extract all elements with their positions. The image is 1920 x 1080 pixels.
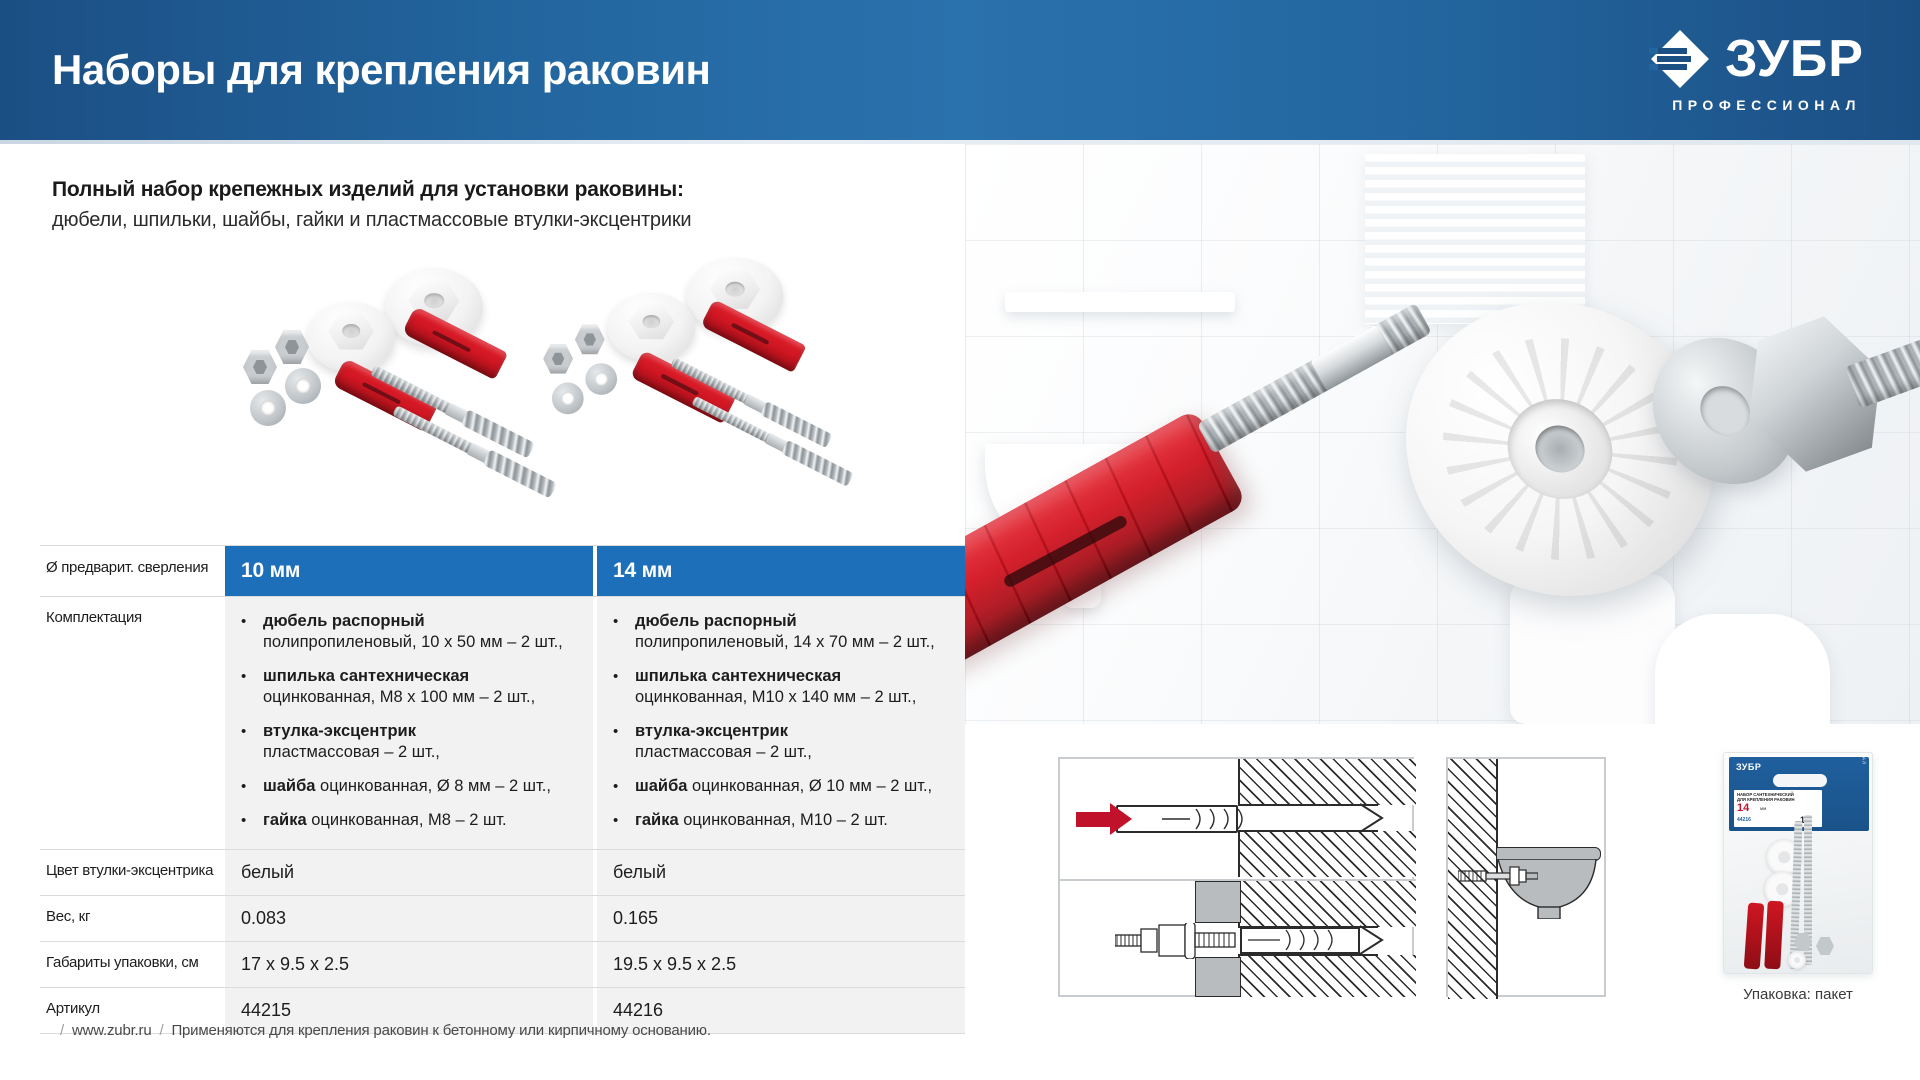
kit-item-detail: пластмассовая – 2 шт., (635, 742, 812, 763)
page-title: Наборы для крепления раковин (52, 46, 710, 94)
footer-slash: / (60, 1022, 64, 1039)
list-item: • шайба оцинкованная, Ø 8 мм – 2 шт., (241, 776, 577, 797)
row-label-color: Цвет втулки-эксцентрика (40, 850, 225, 895)
datasheet-page: Наборы для крепления раковин ЗУБР ПРОФЕС… (0, 0, 1920, 1080)
package-brand: ЗУБР (1736, 762, 1761, 772)
intro-headline: Полный набор крепежных изделий для устан… (52, 178, 691, 202)
table-header-col-14mm: 14 мм (593, 546, 965, 596)
kit-item-detail: полипропиленовый, 14 x 70 мм – 2 шт., (635, 632, 935, 653)
table-row: Комплектация • дюбель распорный полипроп… (40, 597, 965, 850)
bullet-icon: • (241, 776, 263, 797)
hero-bolt-end (1845, 336, 1920, 409)
row-value-dimensions-10mm: 17 x 9.5 x 2.5 (225, 942, 593, 987)
washer (250, 390, 286, 426)
kit-item-name: шайба (635, 777, 687, 795)
bullet-icon: • (613, 721, 635, 763)
washer (552, 383, 584, 415)
table-header-label: Ø предварит. сверления (40, 546, 225, 596)
kit-item-name: дюбель распорный (635, 612, 797, 630)
footer-slash: / (159, 1022, 163, 1039)
kit-item-name: гайка (635, 811, 679, 829)
package-bag: ЗУБР НАБОР САНТЕХНИЧЕСКИЙ ДЛЯ КРЕПЛЕНИЯ … (1723, 752, 1873, 974)
list-item: • шпилька сантехническая оцинкованная, М… (613, 666, 949, 708)
brand-logo: ЗУБР ПРОФЕССИОНАЛ (1649, 28, 1864, 113)
list-item: • шпилька сантехническая оцинкованная, М… (241, 666, 577, 708)
bullet-icon: • (613, 776, 635, 797)
kit-item-detail: оцинкованная, Ø 10 мм – 2 шт., (687, 777, 932, 795)
package-caption: Упаковка: пакет (1723, 986, 1873, 1003)
bullet-icon: • (241, 666, 263, 708)
row-label-komplektatsiya: Комплектация (40, 597, 225, 849)
kit-item-name: втулка-эксцентрик (635, 722, 788, 740)
wall-hatching (1238, 955, 1416, 997)
kit-item-name: дюбель распорный (263, 612, 425, 630)
hero-assembly (965, 154, 1920, 724)
product-photos (215, 240, 975, 550)
diagram-sink-mounted (1446, 757, 1606, 997)
list-item: • гайка оцинкованная, М10 – 2 шт. (613, 810, 949, 831)
package-anchor (1764, 901, 1784, 970)
hex-nut (575, 324, 605, 354)
hero-product-image (965, 144, 1920, 724)
page-header: Наборы для крепления раковин ЗУБР ПРОФЕС… (0, 0, 1920, 140)
bullet-icon: • (241, 721, 263, 763)
bullet-icon: • (241, 611, 263, 653)
row-value-dimensions-14mm: 19.5 x 9.5 x 2.5 (593, 942, 965, 987)
kit-item-name: втулка-эксцентрик (263, 722, 416, 740)
list-item: • втулка-эксцентрик пластмассовая – 2 шт… (613, 721, 949, 763)
package-size: 14 (1737, 803, 1749, 814)
drill-hole-tip (1360, 799, 1400, 839)
intro-subline: дюбели, шпильки, шайбы, гайки и пластмас… (52, 209, 691, 232)
package-label: ЗУБР НАБОР САНТЕХНИЧЕСКИЙ ДЛЯ КРЕПЛЕНИЯ … (1729, 757, 1869, 831)
anchor-ribs-icon (1160, 805, 1290, 833)
row-label-weight: Вес, кг (40, 896, 225, 941)
logo-wordmark: ЗУБР (1725, 33, 1864, 85)
kit-item-detail: полипропиленовый, 10 x 50 мм – 2 шт., (263, 632, 563, 653)
hero-expansion-anchor (965, 409, 1247, 688)
kit-item-detail: оцинкованная, М8 x 100 мм – 2 шт., (263, 687, 535, 708)
row-value-weight-14mm: 0.165 (593, 896, 965, 941)
table-header-col-10mm: 10 мм (225, 546, 593, 596)
row-label-dimensions: Габариты упаковки, см (40, 942, 225, 987)
list-item: • дюбель распорный полипропиленовый, 10 … (241, 611, 577, 653)
kit-list-10mm: • дюбель распорный полипропиленовый, 10 … (225, 597, 593, 849)
row-value-weight-10mm: 0.083 (225, 896, 593, 941)
package-nut (1816, 937, 1834, 955)
list-item: • шайба оцинкованная, Ø 10 мм – 2 шт., (613, 776, 949, 797)
kit-item-detail: оцинкованная, М8 – 2 шт. (307, 811, 507, 829)
kit-item-name: гайка (263, 811, 307, 829)
diagram-insertion-and-assembly (1058, 757, 1414, 997)
hex-nut (543, 344, 573, 374)
table-row: Вес, кг 0.083 0.165 (40, 896, 965, 942)
bullet-icon: • (613, 666, 635, 708)
package-washer (1788, 951, 1806, 969)
bullet-icon: • (613, 611, 635, 653)
list-item: • дюбель распорный полипропиленовый, 14 … (613, 611, 949, 653)
package-photo-block: ЗУБР НАБОР САНТЕХНИЧЕСКИЙ ДЛЯ КРЕПЛЕНИЯ … (1723, 752, 1873, 1003)
list-item: • втулка-эксцентрик пластмассовая – 2 шт… (241, 721, 577, 763)
specs-table: Ø предварит. сверления 10 мм 14 мм Компл… (40, 545, 965, 1034)
kit-item-name: шпилька сантехническая (263, 667, 469, 685)
footer-website[interactable]: www.zubr.ru (72, 1022, 152, 1039)
kit-item-detail: пластмассовая – 2 шт., (263, 742, 440, 763)
hex-nut (275, 330, 309, 364)
zubr-arrow-icon (1649, 28, 1711, 90)
hex-nut (243, 350, 277, 384)
kit-item-detail: оцинкованная, Ø 8 мм – 2 шт., (315, 777, 551, 795)
anchor-stud-icon (1458, 865, 1538, 887)
anchor-ribs-icon (1246, 927, 1366, 954)
kit-item-detail: оцинкованная, М10 – 2 шт. (679, 811, 888, 829)
bullet-icon: • (613, 810, 635, 831)
table-header-row: Ø предварит. сверления 10 мм 14 мм (40, 545, 965, 597)
kit-item-name: шайба (263, 777, 315, 795)
mount-plate (1195, 957, 1241, 997)
washer (285, 368, 321, 404)
table-row: Габариты упаковки, см 17 x 9.5 x 2.5 19.… (40, 942, 965, 988)
kit-list-14mm: • дюбель распорный полипропиленовый, 14 … (593, 597, 965, 849)
washer (585, 363, 617, 395)
package-article: 44216 (1737, 817, 1751, 823)
package-anchor (1744, 903, 1765, 970)
eccentric-bushing (607, 293, 695, 362)
logo-tagline: ПРОФЕССИОНАЛ (1672, 97, 1861, 113)
kit-item-name: шпилька сантехническая (635, 667, 841, 685)
euro-hole-icon (1773, 774, 1827, 787)
table-row: Цвет втулки-эксцентрика белый белый (40, 850, 965, 896)
stud-and-nut-icon (1115, 923, 1245, 959)
intro-block: Полный набор крепежных изделий для устан… (52, 178, 691, 232)
page-footer: /www.zubr.ru/Применяются для крепления р… (52, 1022, 711, 1039)
package-tagline: ПРОФЕССИОНАЛ (1861, 757, 1866, 765)
row-value-color-10mm: белый (225, 850, 593, 895)
row-value-color-14mm: белый (593, 850, 965, 895)
bullet-icon: • (241, 810, 263, 831)
mount-plate (1195, 881, 1241, 923)
kit-item-detail: оцинкованная, М10 x 140 мм – 2 шт., (635, 687, 916, 708)
anchor-tip-icon (1360, 921, 1400, 961)
list-item: • гайка оцинкованная, М8 – 2 шт. (241, 810, 577, 831)
footer-note: Применяются для крепления раковин к бето… (171, 1022, 710, 1039)
package-size-unit: мм (1760, 806, 1766, 811)
